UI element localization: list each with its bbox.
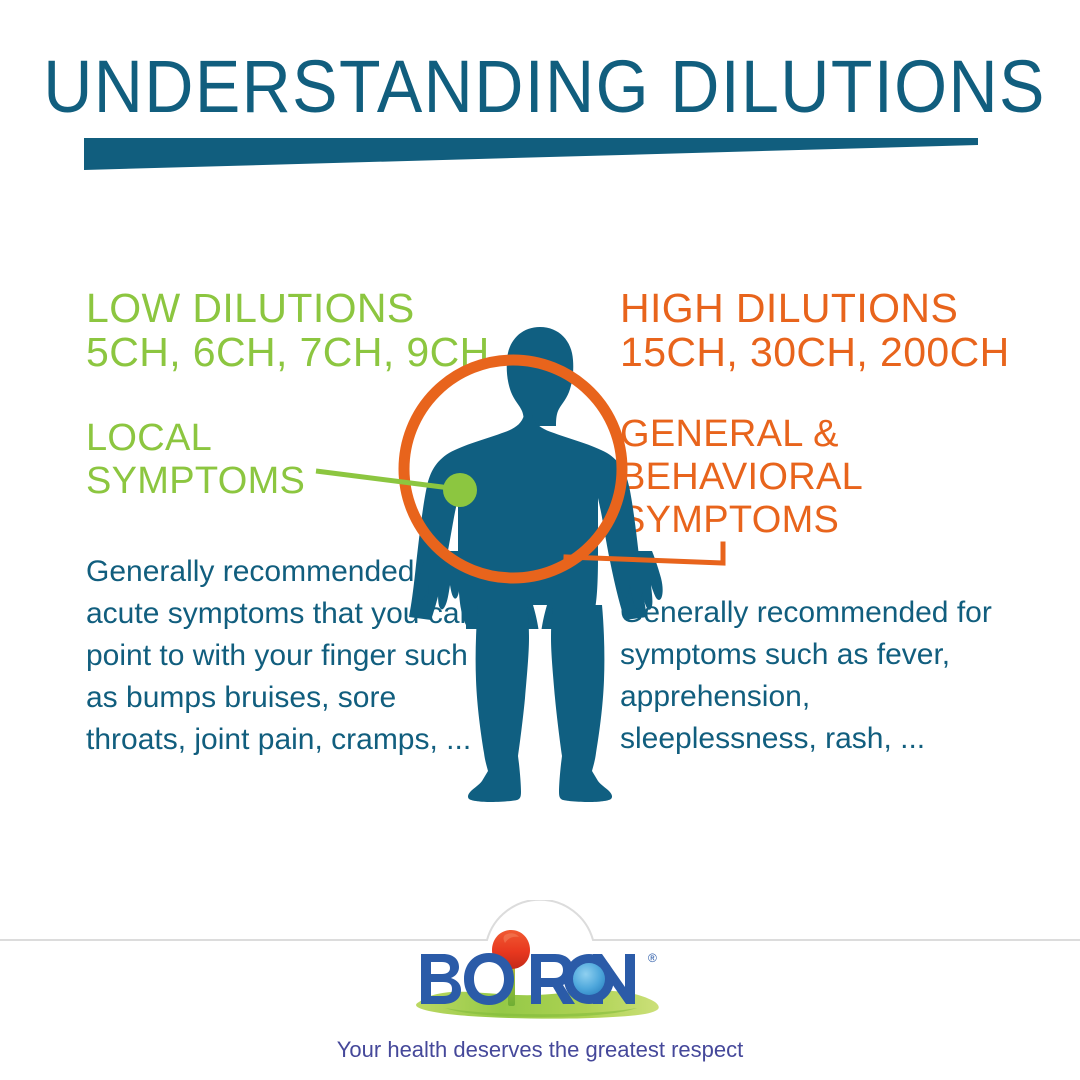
- page-title: UNDERSTANDING DILUTIONS: [43, 46, 1037, 128]
- high-dilutions-values: 15CH, 30CH, 200CH: [620, 330, 1010, 374]
- general-symptoms-line2: BEHAVIORAL: [620, 456, 863, 499]
- low-dilutions-values: 5CH, 6CH, 7CH, 9CH: [86, 330, 490, 374]
- local-symptoms-line1: LOCAL: [86, 417, 305, 460]
- general-symptoms-line3: SYMPTOMS: [620, 499, 863, 542]
- brand-tagline: Your health deserves the greatest respec…: [0, 1036, 1080, 1064]
- high-dilutions-heading: HIGH DILUTIONS 15CH, 30CH, 200CH: [620, 286, 1010, 374]
- green-local-symptom-dot: [443, 473, 477, 507]
- general-symptoms-line1: GENERAL &: [620, 413, 863, 456]
- low-dilutions-heading: LOW DILUTIONS 5CH, 6CH, 7CH, 9CH: [86, 286, 490, 374]
- boiron-o-droplet-icon: [564, 954, 614, 1004]
- low-dilutions-heading-line1: LOW DILUTIONS: [86, 285, 415, 331]
- local-symptoms-description: Generally recommended for acute symptoms…: [86, 551, 486, 761]
- green-leader-line: [316, 471, 458, 489]
- orange-highlight-circle: [404, 360, 622, 578]
- local-symptoms-line2: SYMPTOMS: [86, 460, 305, 503]
- general-symptoms-description: Generally recommended for symptoms such …: [620, 592, 1012, 760]
- high-dilutions-heading-line1: HIGH DILUTIONS: [620, 285, 958, 331]
- title-underline-wedge: [84, 136, 978, 172]
- registered-trademark-icon: ®: [648, 951, 657, 965]
- boiron-logo: ®: [405, 926, 675, 1021]
- local-symptoms-subheading: LOCAL SYMPTOMS: [86, 417, 305, 503]
- infographic-page: UNDERSTANDING DILUTIONS LOW DILUTIONS 5C…: [0, 0, 1080, 1080]
- general-symptoms-subheading: GENERAL & BEHAVIORAL SYMPTOMS: [620, 413, 863, 542]
- orange-leader-line: [566, 544, 723, 563]
